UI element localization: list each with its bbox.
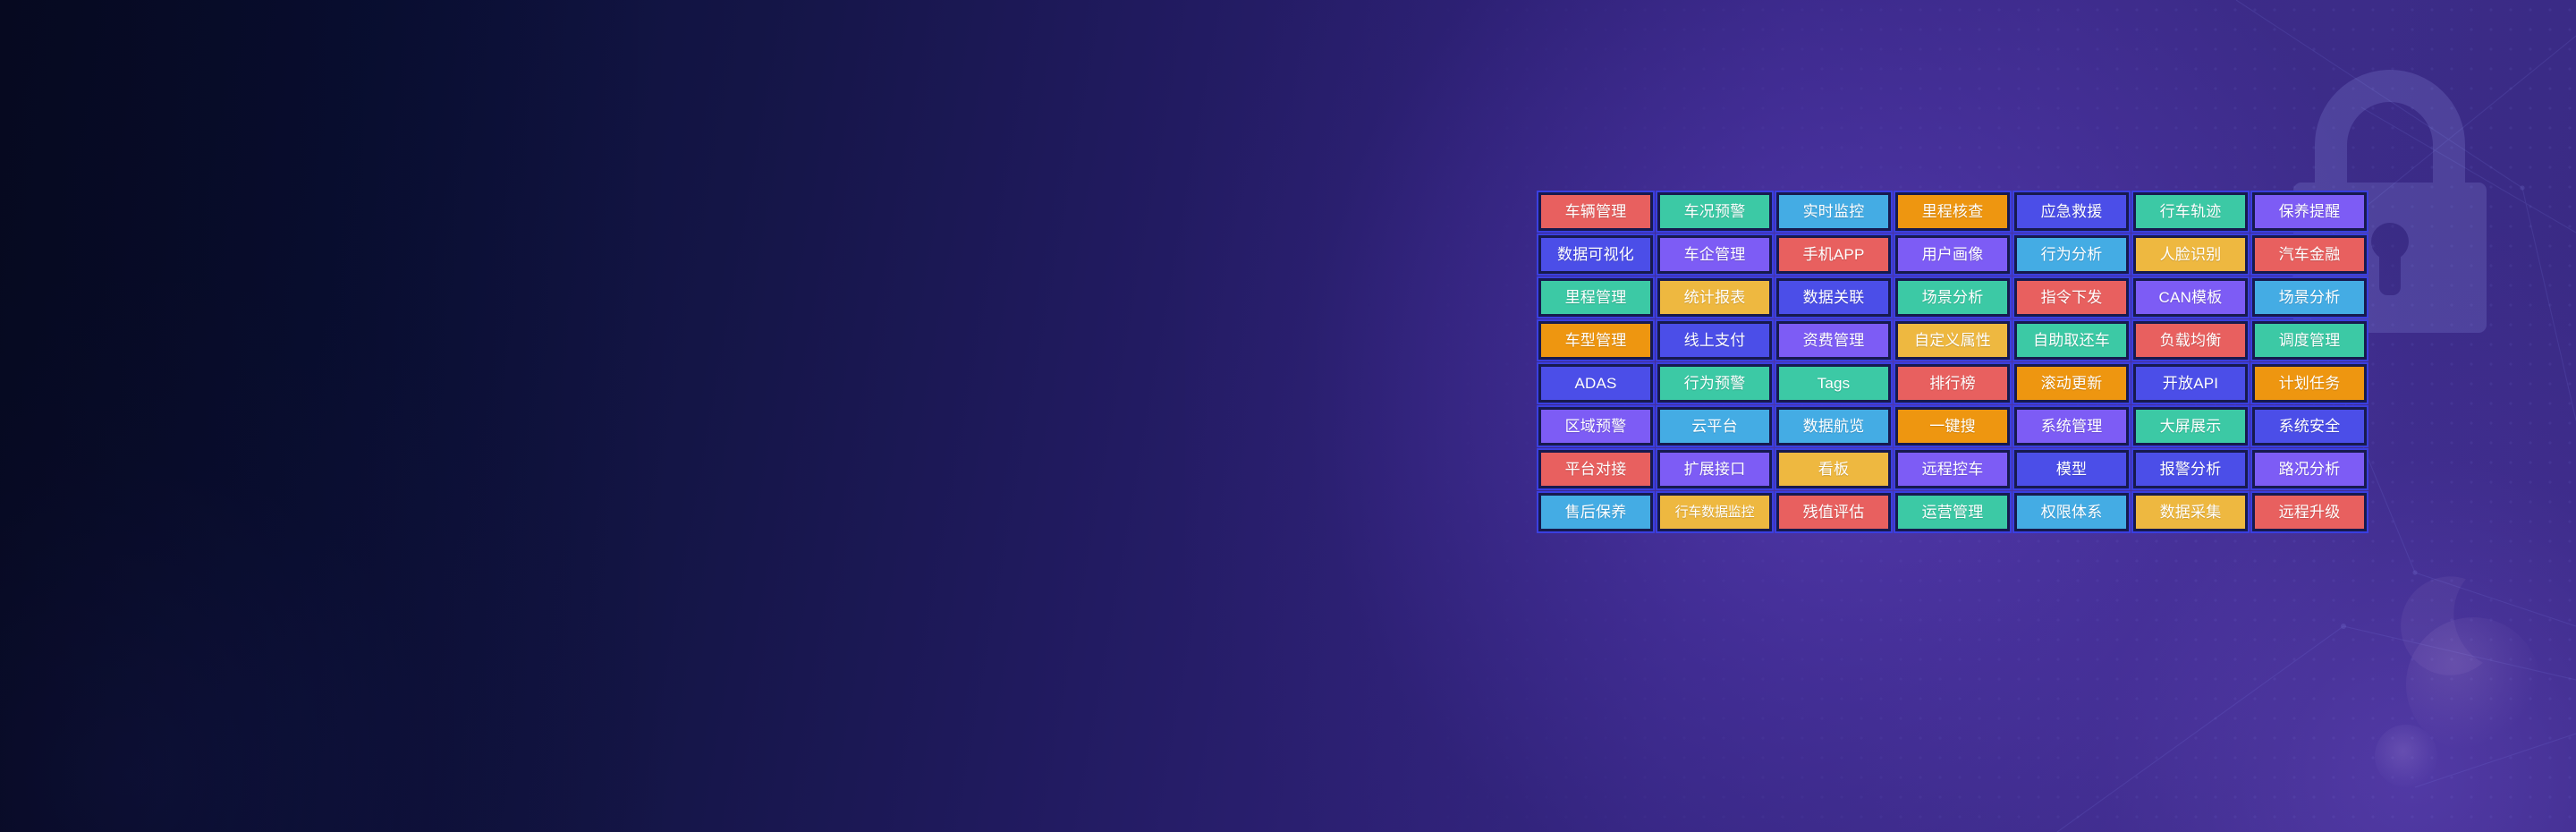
feature-tile-fill: 云平台 xyxy=(1660,410,1769,443)
feature-tile-fill: 开放API xyxy=(2136,367,2245,400)
feature-tile[interactable]: 场景分析 xyxy=(2250,276,2368,318)
feature-tile-label: 区域预警 xyxy=(1565,419,1627,434)
feature-tile-label: 车辆管理 xyxy=(1565,204,1627,219)
feature-tile[interactable]: 实时监控 xyxy=(1775,191,1893,233)
feature-tile[interactable]: 里程管理 xyxy=(1537,276,1655,318)
feature-tile[interactable]: 自定义属性 xyxy=(1894,319,2012,361)
feature-tile-label: 系统安全 xyxy=(2279,419,2341,434)
feature-tile[interactable]: 远程升级 xyxy=(2250,491,2368,533)
feature-tile[interactable]: 场景分析 xyxy=(1894,276,2012,318)
feature-tile-fill: CAN模板 xyxy=(2136,281,2245,314)
feature-tile-fill: 场景分析 xyxy=(1898,281,2007,314)
feature-tile-label: CAN模板 xyxy=(2159,290,2223,305)
feature-tile[interactable]: 计划任务 xyxy=(2250,362,2368,404)
feature-tile-label: 数据航览 xyxy=(1803,419,1865,434)
feature-tile-fill: 行车轨迹 xyxy=(2136,195,2245,228)
screen: 车辆管理车况预警实时监控里程核查应急救援行车轨迹保养提醒数据可视化车企管理手机A… xyxy=(0,0,2576,832)
feature-tile-label: 调度管理 xyxy=(2279,333,2341,348)
feature-tile[interactable]: 开放API xyxy=(2131,362,2250,404)
feature-tile-label: 扩展接口 xyxy=(1684,462,1746,477)
feature-tile-fill: 数据航览 xyxy=(1779,410,1888,443)
feature-tile[interactable]: 系统安全 xyxy=(2250,405,2368,447)
feature-tile-fill: 保养提醒 xyxy=(2255,195,2364,228)
feature-tile[interactable]: 线上支付 xyxy=(1656,319,1774,361)
feature-tile[interactable]: 用户画像 xyxy=(1894,233,2012,276)
feature-tile-fill: 远程控车 xyxy=(1898,453,2007,486)
feature-tile[interactable]: 路况分析 xyxy=(2250,448,2368,490)
feature-tile[interactable]: 保养提醒 xyxy=(2250,191,2368,233)
feature-tile-label: 指令下发 xyxy=(2041,290,2103,305)
feature-tile[interactable]: 数据采集 xyxy=(2131,491,2250,533)
feature-tile-label: 云平台 xyxy=(1691,419,1738,434)
feature-tile-label: 看板 xyxy=(1818,462,1849,477)
feature-tile-label: Tags xyxy=(1818,376,1851,391)
feature-tile[interactable]: 远程控车 xyxy=(1894,448,2012,490)
feature-tile[interactable]: 报警分析 xyxy=(2131,448,2250,490)
feature-tile-fill: 数据关联 xyxy=(1779,281,1888,314)
feature-tile[interactable]: 调度管理 xyxy=(2250,319,2368,361)
feature-tile-fill: 扩展接口 xyxy=(1660,453,1769,486)
feature-tile-fill: 滚动更新 xyxy=(2017,367,2126,400)
feature-tile-label: 路况分析 xyxy=(2279,462,2341,477)
feature-tile-label: 自定义属性 xyxy=(1914,333,1991,348)
feature-tile-label: 资费管理 xyxy=(1803,333,1865,348)
feature-tile[interactable]: 数据关联 xyxy=(1775,276,1893,318)
feature-tile-label: 手机APP xyxy=(1802,247,1864,262)
feature-tile-fill: 行为预警 xyxy=(1660,367,1769,400)
feature-tile-label: 应急救援 xyxy=(2041,204,2103,219)
feature-tile-label: 运营管理 xyxy=(1922,505,1984,520)
feature-tile[interactable]: 行为分析 xyxy=(2012,233,2131,276)
feature-tile-fill: 车辆管理 xyxy=(1541,195,1650,228)
feature-tile-fill: 里程管理 xyxy=(1541,281,1650,314)
feature-tile[interactable]: 手机APP xyxy=(1775,233,1893,276)
feature-tile[interactable]: 大屏展示 xyxy=(2131,405,2250,447)
feature-tile[interactable]: 数据可视化 xyxy=(1537,233,1655,276)
feature-tile[interactable]: 汽车金融 xyxy=(2250,233,2368,276)
feature-tile-fill: 数据采集 xyxy=(2136,496,2245,529)
feature-tile-label: 计划任务 xyxy=(2279,376,2341,391)
feature-tile[interactable]: 行为预警 xyxy=(1656,362,1774,404)
feature-tile-label: 用户画像 xyxy=(1922,247,1984,262)
feature-tile-label: 残值评估 xyxy=(1803,505,1865,520)
feature-tile[interactable]: 扩展接口 xyxy=(1656,448,1774,490)
feature-tile[interactable]: 应急救援 xyxy=(2012,191,2131,233)
feature-tile-fill: 自助取还车 xyxy=(2017,324,2126,357)
feature-tile-fill: 看板 xyxy=(1779,453,1888,486)
feature-tile[interactable]: 区域预警 xyxy=(1537,405,1655,447)
feature-tile-label: 报警分析 xyxy=(2160,462,2222,477)
feature-tile-fill: 远程升级 xyxy=(2255,496,2364,529)
feature-tile[interactable]: Tags xyxy=(1775,362,1893,404)
feature-tile-fill: 人脸识别 xyxy=(2136,238,2245,271)
feature-tile-fill: 用户画像 xyxy=(1898,238,2007,271)
feature-tile-fill: 行车数据监控 xyxy=(1660,496,1769,529)
feature-tile-fill: 模型 xyxy=(2017,453,2126,486)
feature-tile[interactable]: 车辆管理 xyxy=(1537,191,1655,233)
feature-tile[interactable]: 排行榜 xyxy=(1894,362,2012,404)
feature-tile-fill: 应急救援 xyxy=(2017,195,2126,228)
feature-tile[interactable]: 人脸识别 xyxy=(2131,233,2250,276)
feature-tile-fill: Tags xyxy=(1779,367,1888,400)
feature-tile-fill: 里程核查 xyxy=(1898,195,2007,228)
feature-tile-label: 系统管理 xyxy=(2041,419,2103,434)
feature-tile-fill: 负载均衡 xyxy=(2136,324,2245,357)
feature-tile-fill: ADAS xyxy=(1541,367,1650,400)
feature-tile-label: 行为预警 xyxy=(1684,376,1746,391)
feature-tile-grid: 车辆管理车况预警实时监控里程核查应急救援行车轨迹保养提醒数据可视化车企管理手机A… xyxy=(1537,191,2368,533)
feature-tile-fill: 数据可视化 xyxy=(1541,238,1650,271)
feature-tile-label: 车型管理 xyxy=(1565,333,1627,348)
feature-tile-label: 数据采集 xyxy=(2160,505,2222,520)
feature-tile-label: 数据可视化 xyxy=(1557,247,1634,262)
feature-tile[interactable]: 模型 xyxy=(2012,448,2131,490)
feature-tile[interactable]: 行车轨迹 xyxy=(2131,191,2250,233)
feature-tile-fill: 路况分析 xyxy=(2255,453,2364,486)
feature-tile-fill: 指令下发 xyxy=(2017,281,2126,314)
feature-tile-label: 场景分析 xyxy=(1922,290,1984,305)
feature-tile[interactable]: 残值评估 xyxy=(1775,491,1893,533)
feature-tile-label: 行车轨迹 xyxy=(2160,204,2222,219)
feature-tile-fill: 报警分析 xyxy=(2136,453,2245,486)
feature-tile-label: 排行榜 xyxy=(1929,376,1976,391)
feature-tile[interactable]: 平台对接 xyxy=(1537,448,1655,490)
feature-tile[interactable]: 指令下发 xyxy=(2012,276,2131,318)
feature-tile[interactable]: 权限体系 xyxy=(2012,491,2131,533)
feature-tile[interactable]: 运营管理 xyxy=(1894,491,2012,533)
feature-tile-label: 汽车金融 xyxy=(2279,247,2341,262)
feature-tile-fill: 运营管理 xyxy=(1898,496,2007,529)
feature-tile-fill: 实时监控 xyxy=(1779,195,1888,228)
feature-tile-label: 数据关联 xyxy=(1803,290,1865,305)
feature-tile-label: 实时监控 xyxy=(1803,204,1865,219)
feature-tile-label: 远程升级 xyxy=(2279,505,2341,520)
feature-tile[interactable]: 售后保养 xyxy=(1537,491,1655,533)
feature-tile[interactable]: ADAS xyxy=(1537,362,1655,404)
feature-tile-fill: 调度管理 xyxy=(2255,324,2364,357)
feature-tile[interactable]: 统计报表 xyxy=(1656,276,1774,318)
feature-tile-fill: 手机APP xyxy=(1779,238,1888,271)
feature-tile[interactable]: 系统管理 xyxy=(2012,405,2131,447)
feature-tile-fill: 计划任务 xyxy=(2255,367,2364,400)
feature-tile-label: 开放API xyxy=(2163,376,2218,391)
feature-tile-fill: 汽车金融 xyxy=(2255,238,2364,271)
feature-tile-fill: 自定义属性 xyxy=(1898,324,2007,357)
feature-tile[interactable]: 车企管理 xyxy=(1656,233,1774,276)
feature-tile[interactable]: 车况预警 xyxy=(1656,191,1774,233)
feature-tile-label: 场景分析 xyxy=(2279,290,2341,305)
feature-tile-fill: 大屏展示 xyxy=(2136,410,2245,443)
feature-tile-fill: 行为分析 xyxy=(2017,238,2126,271)
feature-tile-fill: 权限体系 xyxy=(2017,496,2126,529)
feature-tile[interactable]: 数据航览 xyxy=(1775,405,1893,447)
feature-tile[interactable]: 里程核查 xyxy=(1894,191,2012,233)
feature-tile-label: 负载均衡 xyxy=(2160,333,2222,348)
feature-tile[interactable]: 负载均衡 xyxy=(2131,319,2250,361)
feature-tile-fill: 系统安全 xyxy=(2255,410,2364,443)
feature-tile-label: 自助取还车 xyxy=(2033,333,2110,348)
feature-tile-label: 车况预警 xyxy=(1684,204,1746,219)
feature-tile-label: 统计报表 xyxy=(1684,290,1746,305)
feature-tile[interactable]: CAN模板 xyxy=(2131,276,2250,318)
feature-tile-fill: 残值评估 xyxy=(1779,496,1888,529)
feature-tile-label: 里程核查 xyxy=(1922,204,1984,219)
feature-tile-label: 售后保养 xyxy=(1565,505,1627,520)
feature-tile[interactable]: 滚动更新 xyxy=(2012,362,2131,404)
feature-tile-label: 大屏展示 xyxy=(2160,419,2222,434)
feature-tile-label: 远程控车 xyxy=(1922,462,1984,477)
feature-tile-fill: 资费管理 xyxy=(1779,324,1888,357)
feature-tile[interactable]: 云平台 xyxy=(1656,405,1774,447)
feature-tile-fill: 车型管理 xyxy=(1541,324,1650,357)
feature-tile-label: 车企管理 xyxy=(1684,247,1746,262)
feature-tile-fill: 线上支付 xyxy=(1660,324,1769,357)
feature-tile-fill: 排行榜 xyxy=(1898,367,2007,400)
feature-tile-label: 权限体系 xyxy=(2041,505,2103,520)
feature-tile[interactable]: 车型管理 xyxy=(1537,319,1655,361)
feature-tile-fill: 售后保养 xyxy=(1541,496,1650,529)
feature-tile-label: 线上支付 xyxy=(1684,333,1746,348)
feature-tile-label: 里程管理 xyxy=(1565,290,1627,305)
feature-tile[interactable]: 自助取还车 xyxy=(2012,319,2131,361)
feature-tile-label: 滚动更新 xyxy=(2041,376,2103,391)
feature-tile-fill: 统计报表 xyxy=(1660,281,1769,314)
feature-tile-label: 一键搜 xyxy=(1929,419,1976,434)
feature-tile-fill: 车况预警 xyxy=(1660,195,1769,228)
feature-tile-label: 平台对接 xyxy=(1565,462,1627,477)
feature-tile-label: 行车数据监控 xyxy=(1675,505,1755,519)
feature-tile-label: 人脸识别 xyxy=(2160,247,2222,262)
feature-tile[interactable]: 看板 xyxy=(1775,448,1893,490)
feature-tile-label: ADAS xyxy=(1574,376,1616,391)
feature-tile-fill: 区域预警 xyxy=(1541,410,1650,443)
feature-tile-fill: 一键搜 xyxy=(1898,410,2007,443)
feature-tile-fill: 系统管理 xyxy=(2017,410,2126,443)
feature-tile[interactable]: 资费管理 xyxy=(1775,319,1893,361)
feature-tile[interactable]: 行车数据监控 xyxy=(1656,491,1774,533)
feature-tile-label: 行为分析 xyxy=(2041,247,2103,262)
feature-tile-fill: 场景分析 xyxy=(2255,281,2364,314)
feature-tile-label: 保养提醒 xyxy=(2279,204,2341,219)
feature-tile-fill: 平台对接 xyxy=(1541,453,1650,486)
feature-tile-label: 模型 xyxy=(2056,462,2087,477)
feature-tile[interactable]: 一键搜 xyxy=(1894,405,2012,447)
feature-tile-fill: 车企管理 xyxy=(1660,238,1769,271)
